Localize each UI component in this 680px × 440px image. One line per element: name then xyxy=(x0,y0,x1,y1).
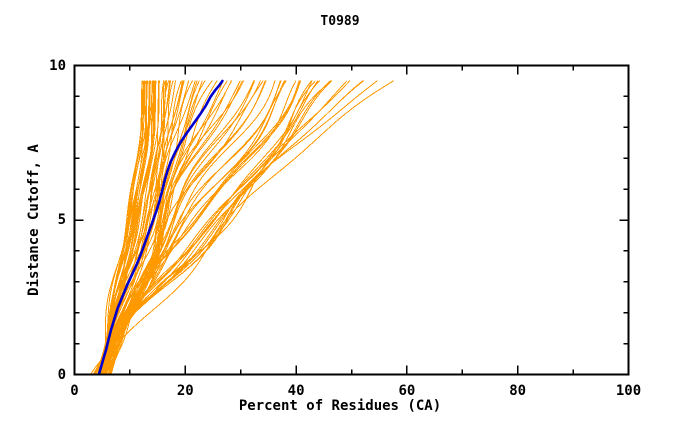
y-tick-label: 0 xyxy=(28,367,66,383)
chart-root: T0989 Distance Cutoff, A Percent of Resi… xyxy=(0,0,680,440)
x-tick-label: 20 xyxy=(177,383,194,399)
x-axis-label: Percent of Residues (CA) xyxy=(0,398,680,414)
x-tick-label: 60 xyxy=(398,383,415,399)
x-tick-label: 40 xyxy=(288,383,305,399)
curve-group xyxy=(90,81,393,375)
plot-area xyxy=(0,0,680,440)
x-tick-label: 80 xyxy=(509,383,526,399)
y-tick-label: 5 xyxy=(28,212,66,228)
x-tick-label: 100 xyxy=(616,383,641,399)
y-tick-label: 10 xyxy=(28,58,66,74)
x-tick-label: 0 xyxy=(70,383,78,399)
